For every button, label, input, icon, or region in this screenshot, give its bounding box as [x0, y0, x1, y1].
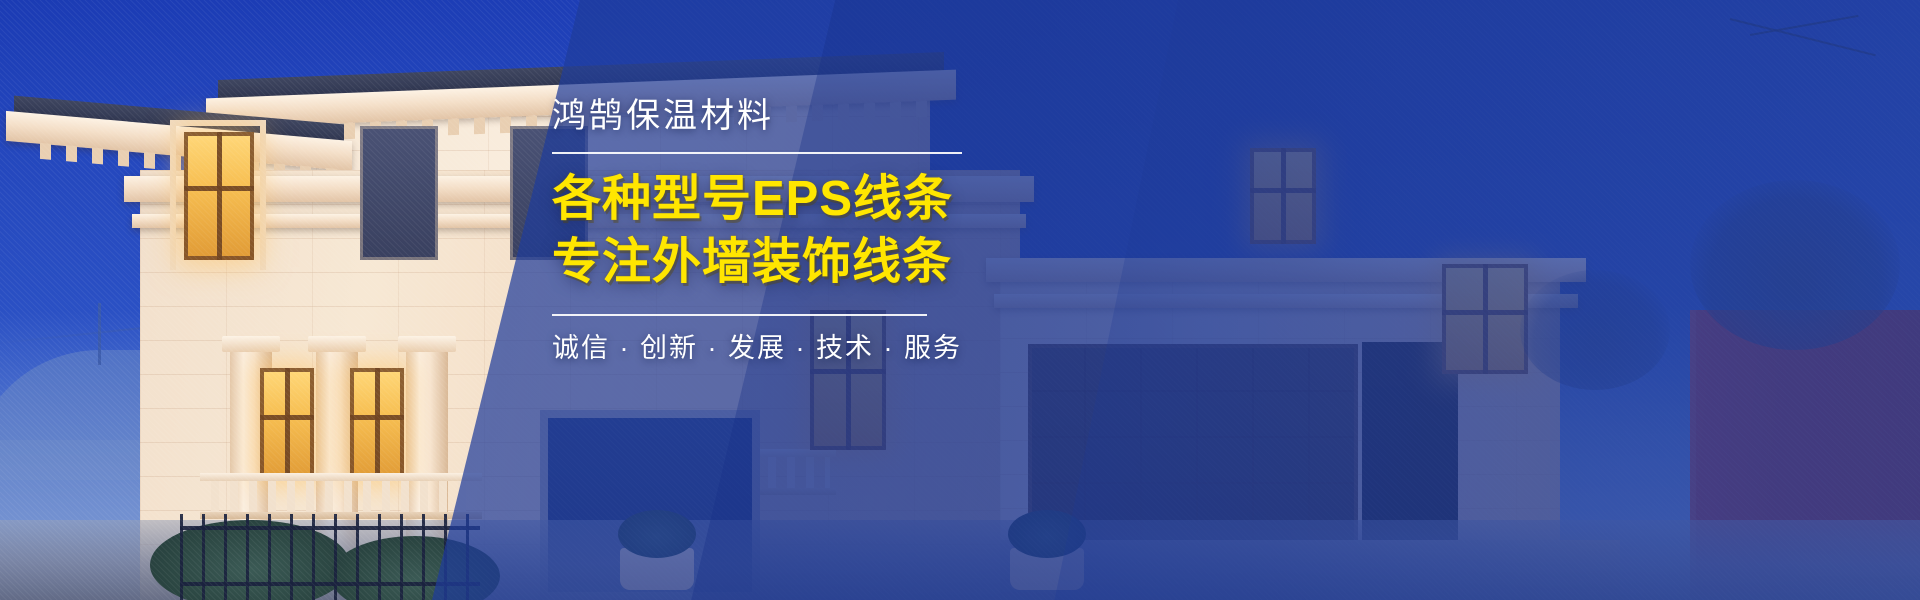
headline-line-2: 专注外墙装饰线条 — [552, 231, 1022, 294]
window-mullion-vertical — [285, 368, 290, 480]
promotional-banner: 鸿鹄保温材料 各种型号EPS线条 专注外墙装饰线条 诚信 · 创新 · 发展 ·… — [0, 0, 1920, 600]
balcony-balustrade — [206, 480, 476, 514]
distant-mast — [98, 303, 101, 365]
tagline: 诚信 · 创新 · 发展 · 技术 · 服务 — [552, 332, 1022, 364]
window-mullion-vertical — [217, 132, 222, 260]
banner-text-block: 鸿鹄保温材料 各种型号EPS线条 专注外墙装饰线条 诚信 · 创新 · 发展 ·… — [552, 96, 1022, 364]
window-mullion-horizontal — [350, 415, 404, 420]
window-mullion-vertical — [375, 368, 380, 480]
divider-rule-bottom — [552, 314, 927, 316]
company-name: 鸿鹄保温材料 — [552, 96, 1022, 136]
iron-fence-rail — [180, 582, 480, 586]
iron-fence-rail — [180, 526, 480, 530]
upper-window-lit — [184, 132, 254, 260]
headline-line-1: 各种型号EPS线条 — [552, 168, 1022, 231]
ground-window-lit — [350, 368, 404, 480]
divider-rule-top — [552, 152, 962, 154]
window-mullion-horizontal — [260, 415, 314, 420]
window-mullion-horizontal — [184, 186, 254, 191]
upper-window-dark — [360, 126, 438, 260]
ground-window-lit — [260, 368, 314, 480]
